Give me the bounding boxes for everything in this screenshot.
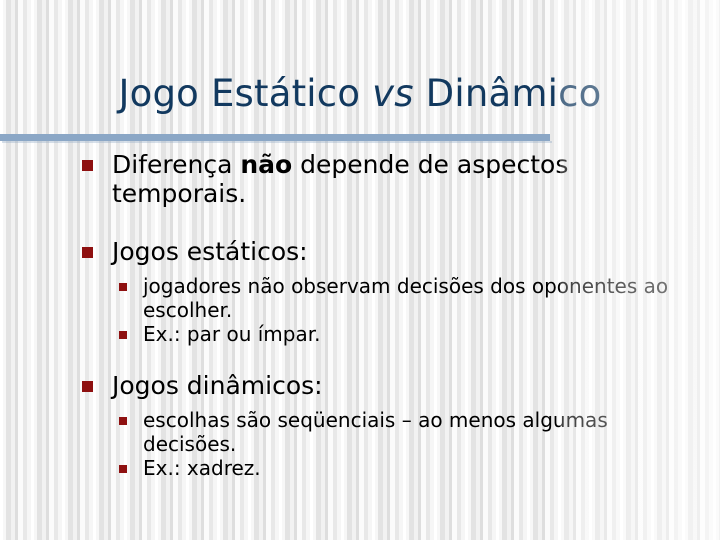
page-title-part-one: Jogo Estático [119,72,373,115]
subbullet-text: jogadores não observam decisões dos opon… [143,274,668,322]
square-bullet-icon [82,160,93,171]
page-title-part-two: Dinâmico [414,72,602,115]
subbullet-item-ex-par-ou-impar: Ex.: par ou ímpar. [0,322,720,346]
subbullet-item-escolhas-sequenciais: escolhas são seqüenciais – ao menos algu… [0,408,720,456]
subbullet-item-jogadores-nao-observam: jogadores não observam decisões dos opon… [0,274,720,322]
spacer-before-dinamicos [0,346,720,371]
bullet-text-bold-nao: não [240,150,292,179]
bullet-label-jogos-estaticos: Jogos estáticos: [112,237,308,266]
title-underline-rule-shadow [2,141,552,143]
bullet-label-jogos-dinamicos: Jogos dinâmicos: [112,371,323,400]
bullet-list-level-2-dinamicos: escolhas são seqüenciais – ao menos algu… [0,408,720,480]
square-bullet-icon [119,331,127,339]
square-bullet-icon [119,417,127,425]
square-bullet-icon [119,465,127,473]
subbullet-item-ex-xadrez: Ex.: xadrez. [0,456,720,480]
page-title-emphasis: vs [372,72,414,115]
subbullet-text: escolhas são seqüenciais – ao menos algu… [143,408,608,456]
subbullet-text: Ex.: xadrez. [143,456,261,480]
bullet-item-jogos-dinamicos: Jogos dinâmicos: [0,371,720,400]
slide-body: Diferença não depende de aspectos tempor… [0,150,720,480]
bullet-list-level-2-estaticos: jogadores não observam decisões dos opon… [0,274,720,346]
bullet-item-diferenca: Diferença não depende de aspectos tempor… [0,150,720,208]
spacer-after-first-bullet [0,212,720,237]
bullet-list-level-1: Diferença não depende de aspectos tempor… [0,150,720,480]
bullet-text-before-bold: Diferença [112,150,240,179]
square-bullet-icon [82,381,93,392]
square-bullet-icon [82,247,93,258]
page-title: Jogo Estático vs Dinâmico [0,72,720,116]
subbullet-text: Ex.: par ou ímpar. [143,322,320,346]
square-bullet-icon [119,283,127,291]
slide-canvas: Jogo Estático vs Dinâmico Diferença não … [0,0,720,540]
bullet-item-jogos-estaticos: Jogos estáticos: [0,237,720,266]
title-underline-rule [0,134,550,141]
